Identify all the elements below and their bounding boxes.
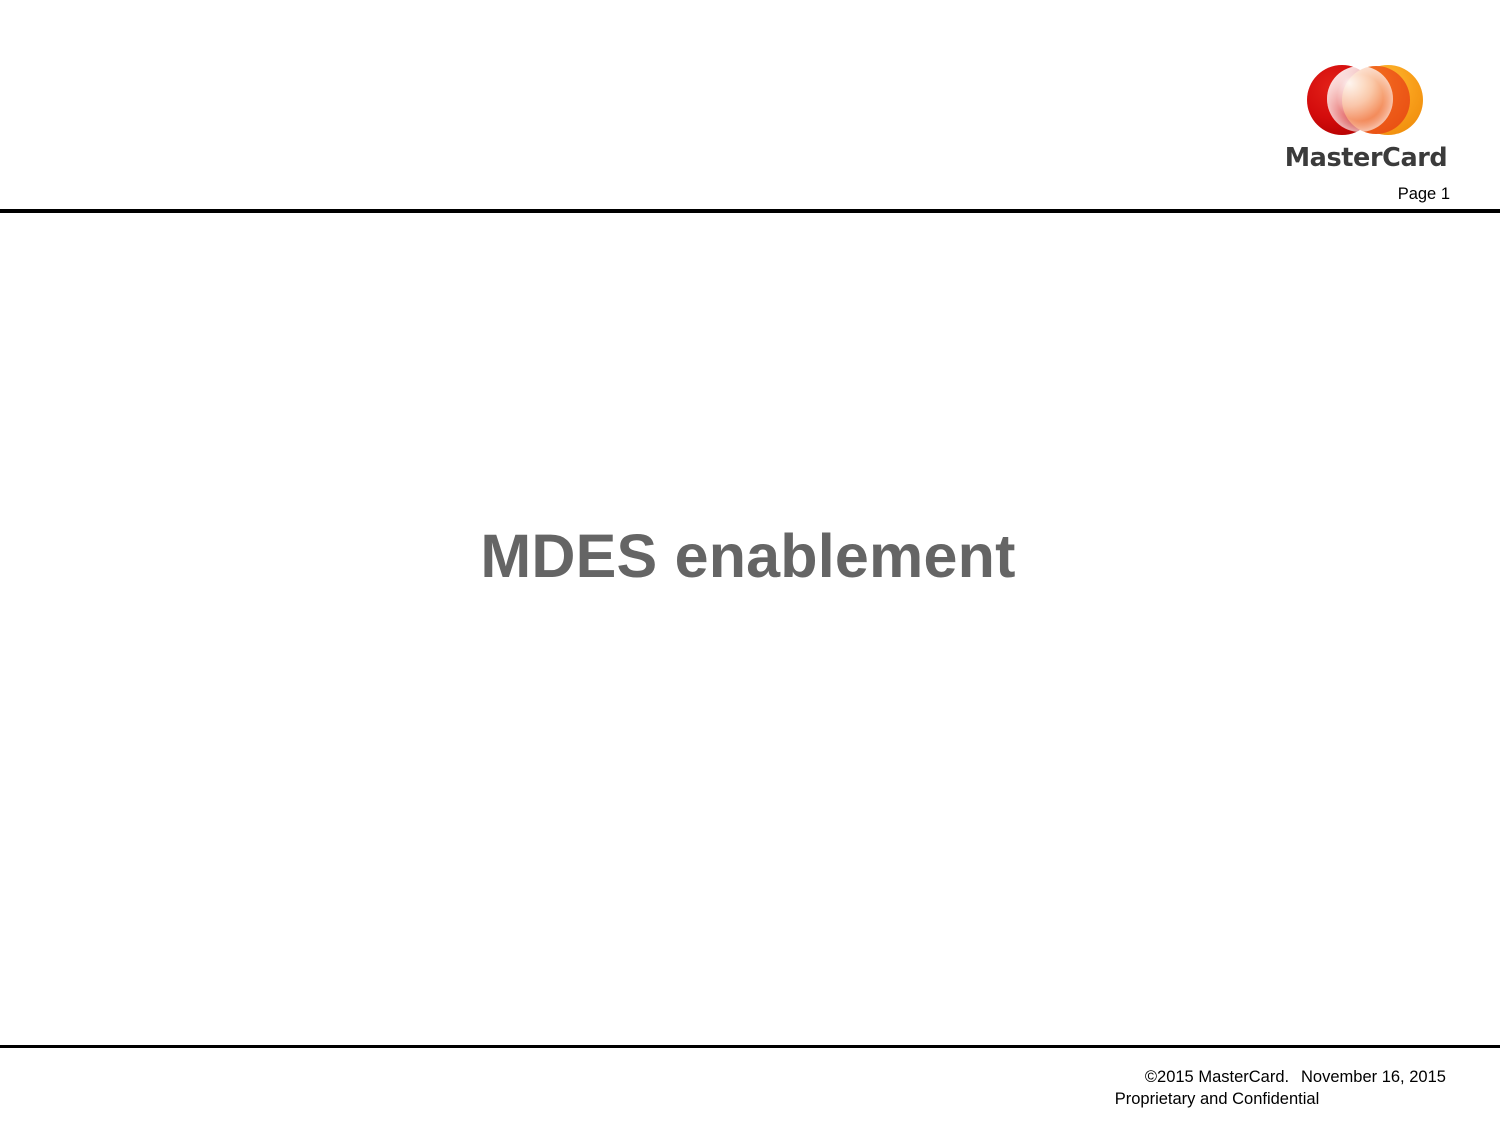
page-number: Page 1 [1398, 186, 1450, 203]
slide-body: MDES enablement [0, 213, 1500, 1047]
page-title: MDES enablement [0, 523, 1500, 590]
slide-footer: ©2015 MasterCard. Proprietary and Confid… [0, 1048, 1500, 1125]
mastercard-brand: MasterCard [1282, 58, 1450, 172]
copyright-line-2: Proprietary and Confidential [1057, 1088, 1377, 1110]
footer-date: November 16, 2015 [1301, 1066, 1446, 1088]
slide-header: MasterCard Page 1 [0, 0, 1500, 213]
copyright-line-1: ©2015 MasterCard. [1145, 1068, 1289, 1086]
mastercard-wordmark: MasterCard [1282, 146, 1450, 172]
presentation-slide: MasterCard Page 1 MDES enablement ©2015 … [0, 0, 1500, 1125]
mastercard-logo-icon [1290, 58, 1442, 144]
